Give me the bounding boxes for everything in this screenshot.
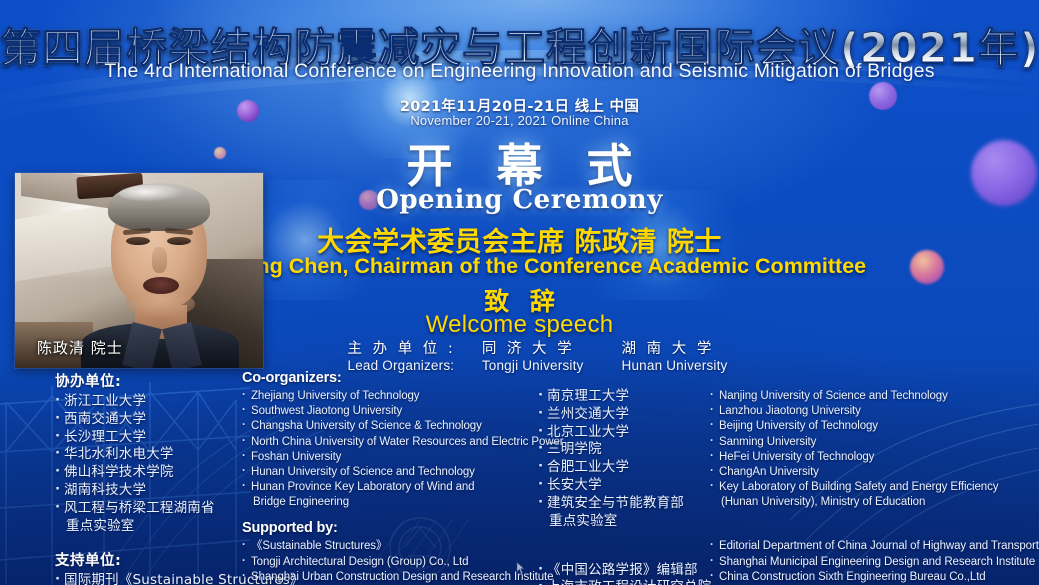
supporters-list-english-right: Editorial Department of China Journal of… bbox=[710, 539, 1035, 585]
list-item: 《Sustainable Structures》 bbox=[242, 539, 534, 554]
chin bbox=[125, 291, 195, 317]
list-item: 《中国公路学报》编辑部 bbox=[538, 562, 706, 580]
list-item: 长沙理工大学 bbox=[55, 429, 240, 447]
nose bbox=[152, 247, 167, 273]
list-item: 北京工业大学 bbox=[538, 424, 706, 442]
presentation-slide: 第四届桥梁结构防震减灾与工程创新国际会议(2021年) The 4rd Inte… bbox=[0, 0, 1039, 585]
list-item: Sanming University bbox=[710, 435, 1035, 450]
list-item: 上海市政工程设计研究总院 bbox=[538, 579, 706, 585]
supporters-heading-english: Supported by: bbox=[242, 520, 534, 536]
list-item: 重点实验室 bbox=[55, 518, 240, 536]
list-item: Zhejiang University of Technology bbox=[242, 389, 534, 404]
conference-title-english: The 4rd International Conference on Engi… bbox=[0, 60, 1039, 83]
list-item: 国际期刊《Sustainable Structures》 bbox=[55, 572, 240, 585]
list-item: Shanghai Urban Construction Design and R… bbox=[242, 570, 534, 585]
list-item: Nanjing University of Science and Techno… bbox=[710, 389, 1035, 404]
sponsors-column-chinese-left: 协办单位: 浙江工业大学 西南交通大学 长沙理工大学 华北水利水电大学 佛山科学… bbox=[55, 370, 240, 585]
list-item: China Construction Sixth Engineering Bur… bbox=[710, 570, 1035, 585]
list-item: Changsha University of Science & Technol… bbox=[242, 419, 534, 434]
video-name-label: 陈政清 院士 bbox=[37, 337, 123, 358]
co-organizers-heading-english: Co-organizers: bbox=[242, 370, 534, 386]
supporters-list-chinese-right: 《中国公路学报》编辑部 上海市政工程设计研究总院 中国建筑第六工程局有限公司 南… bbox=[538, 562, 706, 585]
list-item: Shanghai Municipal Engineering Design an… bbox=[710, 555, 1035, 570]
eye-right bbox=[167, 237, 191, 245]
speaker-video-thumbnail[interactable]: 陈政清 院士 bbox=[15, 173, 263, 368]
lead-organizers-label-chinese: 主 办 单 位 : bbox=[347, 340, 455, 358]
mouth bbox=[143, 277, 179, 294]
conference-date-english: November 20-21, 2021 Online China bbox=[0, 113, 1039, 128]
co-organizers-list-chinese-left: 浙江工业大学 西南交通大学 长沙理工大学 华北水利水电大学 佛山科学技术学院 湖… bbox=[55, 393, 240, 536]
list-item: 西南交通大学 bbox=[55, 411, 240, 429]
list-item: Editorial Department of China Journal of… bbox=[710, 539, 1035, 554]
sponsors-column-english-right: Nanjing University of Science and Techno… bbox=[710, 370, 1035, 585]
list-item: 湖南科技大学 bbox=[55, 482, 240, 500]
list-item: 兰州交通大学 bbox=[538, 406, 706, 424]
list-item: Bridge Engineering bbox=[242, 495, 534, 510]
co-organizers-list-english-left: Zhejiang University of Technology Southw… bbox=[242, 389, 534, 510]
list-item: 南京理工大学 bbox=[538, 388, 706, 406]
list-item: 合肥工业大学 bbox=[538, 459, 706, 477]
list-item: 三明学院 bbox=[538, 441, 706, 459]
list-item: Lanzhou Jiaotong University bbox=[710, 404, 1035, 419]
sponsors-column-english-left: Co-organizers: Zhejiang University of Te… bbox=[242, 370, 534, 585]
list-item: 风工程与桥梁工程湖南省 bbox=[55, 500, 240, 518]
sponsors-section: 协办单位: 浙江工业大学 西南交通大学 长沙理工大学 华北水利水电大学 佛山科学… bbox=[0, 370, 1039, 585]
co-organizers-list-chinese-right: 南京理工大学 兰州交通大学 北京工业大学 三明学院 合肥工业大学 长安大学 建筑… bbox=[538, 388, 706, 531]
list-item: 建筑安全与节能教育部 bbox=[538, 495, 706, 513]
sponsors-column-chinese-right: 南京理工大学 兰州交通大学 北京工业大学 三明学院 合肥工业大学 长安大学 建筑… bbox=[538, 370, 706, 585]
list-item: Beijing University of Technology bbox=[710, 419, 1035, 434]
co-organizers-heading-chinese: 协办单位: bbox=[55, 370, 240, 391]
lead-organizer-1-chinese: 同 济 大 学 bbox=[482, 340, 575, 358]
list-item: 佛山科学技术学院 bbox=[55, 464, 240, 482]
list-item: North China University of Water Resource… bbox=[242, 435, 534, 450]
list-item: Hunan Province Key Laboratory of Wind an… bbox=[242, 480, 534, 495]
list-item: Key Laboratory of Building Safety and En… bbox=[710, 480, 1035, 495]
supporters-list-english-left: 《Sustainable Structures》 Tongji Architec… bbox=[242, 539, 534, 585]
list-item: Southwest Jiaotong University bbox=[242, 404, 534, 419]
lead-organizer-2-chinese: 湖 南 大 学 bbox=[622, 340, 715, 358]
supporters-heading-chinese: 支持单位: bbox=[55, 549, 240, 570]
list-item: 浙江工业大学 bbox=[55, 393, 240, 411]
list-item: HeFei University of Technology bbox=[710, 450, 1035, 465]
list-item: ChangAn University bbox=[710, 465, 1035, 480]
list-item: Tongji Architectural Design (Group) Co.,… bbox=[242, 555, 534, 570]
eye-left bbox=[126, 237, 150, 245]
co-organizers-list-english-right: Nanjing University of Science and Techno… bbox=[710, 389, 1035, 510]
list-item: 华北水利水电大学 bbox=[55, 446, 240, 464]
list-item: 重点实验室 bbox=[538, 513, 706, 531]
supporters-list-chinese-left: 国际期刊《Sustainable Structures》 同济大学建筑设计研究院… bbox=[55, 572, 240, 585]
list-item: Foshan University bbox=[242, 450, 534, 465]
list-item: 长安大学 bbox=[538, 477, 706, 495]
list-item: (Hunan University), Ministry of Educatio… bbox=[710, 495, 1035, 510]
list-item: Hunan University of Science and Technolo… bbox=[242, 465, 534, 480]
hair-highlight bbox=[119, 185, 185, 202]
